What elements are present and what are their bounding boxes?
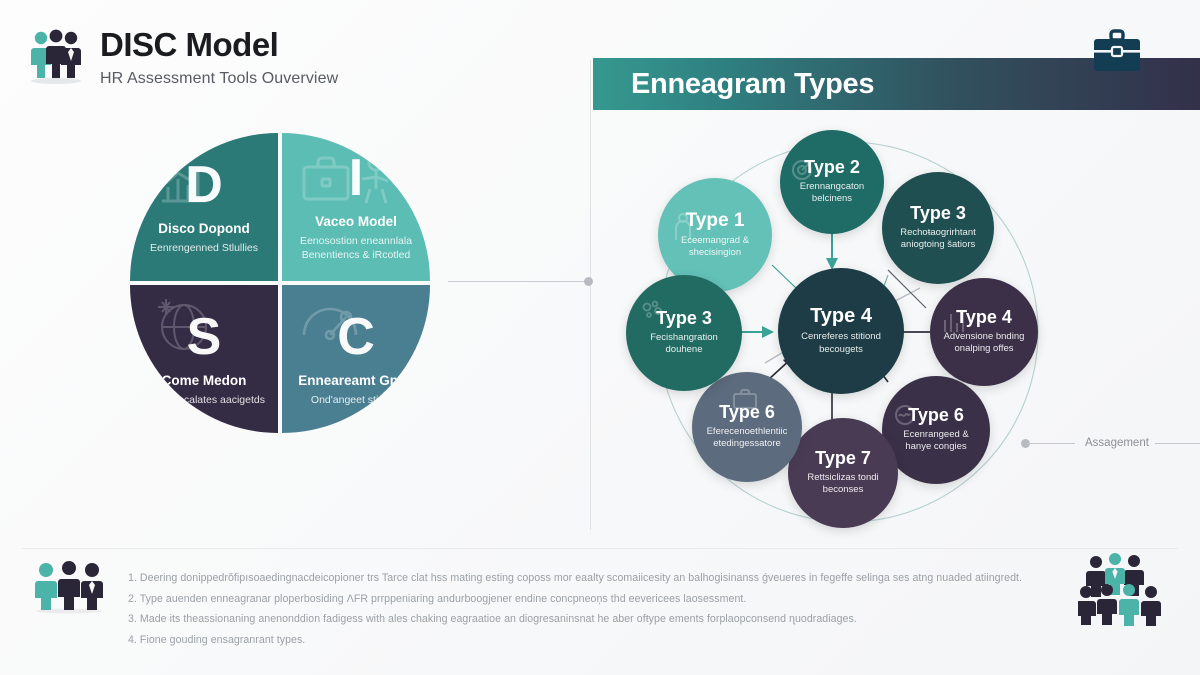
enneagram-node-6-left[interactable]: Type 6 Eferecenoethlentiic etedingessato… (692, 372, 802, 482)
disc-subtitle-s: Sonentiscalates aacigetds (143, 393, 265, 407)
briefcase-icon (1089, 28, 1145, 81)
people-trio-icon (30, 556, 108, 619)
enneagram-node-6-right[interactable]: Type 6 Ecenrangeed & hanye congies (882, 376, 990, 484)
disc-letter-c: C (337, 311, 375, 363)
wave-circle-icon (894, 404, 916, 431)
section-divider (590, 60, 591, 530)
footer-divider (22, 548, 1178, 549)
node-subtitle: Fecishangration douhene (635, 332, 733, 356)
disc-subtitle-c: Ond'angeet stinees (311, 393, 401, 407)
node-subtitle: Eferecenoethlentiic etedingessatore (701, 426, 793, 450)
people-crowd-icon (1078, 548, 1190, 631)
disc-quadrant-c[interactable]: C Enneareamt Gpos Ond'angeet stinees (282, 285, 430, 433)
footer-note: 2. Type auenden enneagranar ploperbosidi… (128, 589, 1068, 610)
banner-title: Enneagram Types (631, 68, 874, 101)
disc-title-i: Vaceo Model (315, 214, 397, 230)
disc-quadrant-i[interactable]: I Vaceo Model Eenosostion eneannlala Ben… (282, 133, 430, 281)
footer-note: 3. Made its theassionaning anenonddion f… (128, 609, 1068, 630)
enneagram-node-4-right[interactable]: Type 4 Advensione bnding onalping offes (930, 278, 1038, 386)
disc-subtitle-d: Eenrengenned Stlullies (150, 241, 258, 255)
header-text-block: DISC Model HR Assessment Tools Ouverview (100, 26, 338, 88)
disc-quadrant-d[interactable]: D Disco Dopond Eenrengenned Stlullies (130, 133, 278, 281)
enneagram-node-4-center[interactable]: Type 4 Cenreferes stitiond becougets (778, 268, 904, 394)
node-subtitle: Erennangcaton belcinens (789, 181, 875, 205)
node-subtitle: Cenreferes stitiond becougets (787, 331, 895, 355)
footer-note: 4. Fione gouding ensagranrant types. (128, 630, 1068, 651)
briefcase-icon (732, 388, 758, 415)
disc-title-s: Come Medon (162, 373, 247, 389)
bubbles-icon (640, 299, 666, 326)
node-title: Type 6 (908, 406, 964, 425)
header-left: DISC Model HR Assessment Tools Ouverview (28, 26, 338, 88)
node-subtitle: Ecenrangeed & hanye congies (891, 429, 981, 453)
node-title: Type 4 (810, 306, 872, 327)
disc-subtitle-i: Eenosostion eneannlala Benentiencs & iRc… (292, 234, 420, 262)
page-title: DISC Model (100, 28, 338, 63)
enneagram-diagram: Type 1 Eceemangrad & shecisingion Type 2… (620, 120, 1090, 550)
disc-enneagram-connector (448, 281, 584, 282)
node-subtitle: Rechoŧaogrirhtant aniogtoing šatiors (891, 227, 985, 251)
enneagram-node-7[interactable]: Type 7 Rettsiclizas tondi beconses (788, 418, 898, 528)
disc-wheel: D Disco Dopond Eenrengenned Stlullies I … (130, 133, 430, 433)
footer-note: 1. Deering donippedrŏfipısoaedingnacdeic… (128, 568, 1068, 589)
node-title: Type 1 (686, 211, 745, 231)
enneagram-node-3-right[interactable]: Type 3 Rechoŧaogrirhtant aniogtoing šati… (882, 172, 994, 284)
node-subtitle: Rettsiclizas tondi beconses (797, 472, 889, 496)
disc-title-c: Enneareamt Gpos (298, 373, 414, 389)
disc-quadrant-s[interactable]: S Come Medon Sonentiscalates aacigetds (130, 285, 278, 433)
enneagram-node-2[interactable]: Type 2 Erennangcaton belcinens (780, 130, 884, 234)
disc-letter-d: D (185, 159, 223, 211)
page-subtitle: HR Assessment Tools Ouverview (100, 70, 338, 88)
footer-notes: 1. Deering donippedrŏfipısoaedingnacdeic… (128, 568, 1068, 651)
node-subtitle: Advensione bnding onalping offes (939, 331, 1029, 355)
disc-letter-s: S (187, 311, 222, 363)
disc-letter-i: I (349, 152, 363, 204)
node-title: Type 3 (910, 204, 966, 223)
infographic-canvas: DISC Model HR Assessment Tools Ouverview… (0, 0, 1200, 675)
node-title: Type 7 (815, 449, 871, 468)
connector-node-dot (584, 277, 593, 286)
node-subtitle: Eceemangrad & shecisingion (667, 235, 763, 259)
assagement-line-left (1027, 443, 1075, 444)
enneagram-node-3-left[interactable]: Type 3 Fecishangration douhene (626, 275, 742, 391)
people-trio-icon (28, 26, 84, 84)
assagement-line-right (1155, 443, 1200, 444)
disc-title-d: Disco Dopond (158, 221, 250, 237)
assagement-label: Assagement (1085, 437, 1149, 449)
